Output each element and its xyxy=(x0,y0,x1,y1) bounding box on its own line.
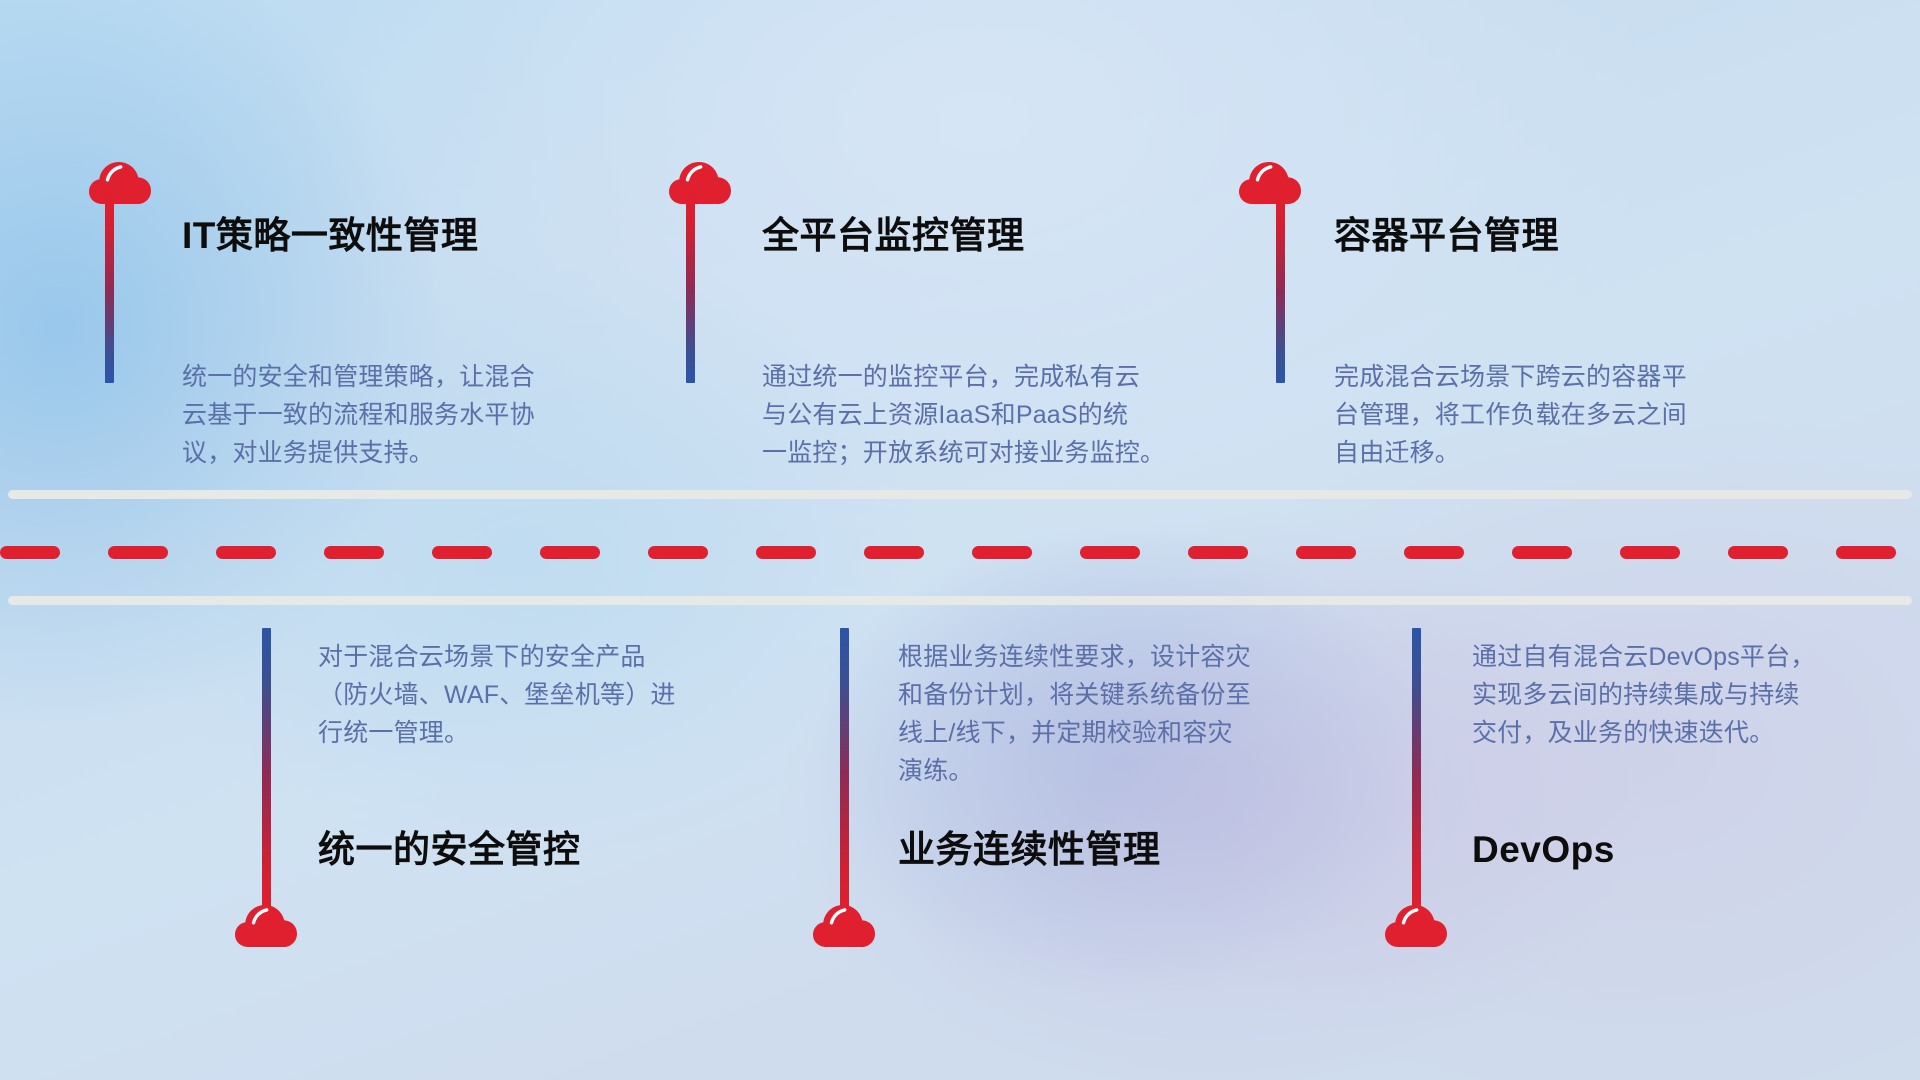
dash-segment xyxy=(432,546,492,559)
road-rail-top xyxy=(8,490,1912,499)
cloud-icon xyxy=(1238,155,1302,205)
infographic-canvas: IT策略一致性管理 统一的安全和管理策略，让混合 云基于一致的流程和服务水平协 … xyxy=(0,0,1920,1080)
road-rail-bottom xyxy=(8,596,1912,605)
dash-group xyxy=(0,546,1920,559)
dash-segment xyxy=(0,546,60,559)
cloud-icon xyxy=(1384,898,1448,948)
dash-segment xyxy=(972,546,1032,559)
dash-segment xyxy=(1404,546,1464,559)
cloud-icon xyxy=(234,898,298,948)
dash-segment xyxy=(1296,546,1356,559)
node-title: 统一的安全管控 xyxy=(318,830,581,871)
dash-segment xyxy=(1188,546,1248,559)
node-body: 统一的安全和管理策略，让混合 云基于一致的流程和服务水平协 议，对业务提供支持。 xyxy=(182,358,612,472)
connector-line xyxy=(105,198,114,383)
cloud-icon xyxy=(88,155,152,205)
node-body: 完成混合云场景下跨云的容器平 台管理，将工作负载在多云之间 自由迁移。 xyxy=(1334,358,1784,472)
dash-segment xyxy=(756,546,816,559)
dash-segment xyxy=(1620,546,1680,559)
dash-segment xyxy=(1080,546,1140,559)
dash-segment xyxy=(864,546,924,559)
cloud-icon xyxy=(668,155,732,205)
node-body: 通过自有混合云DevOps平台， 实现多云间的持续集成与持续 交付，及业务的快速… xyxy=(1472,638,1912,752)
node-title: 容器平台管理 xyxy=(1334,216,1559,257)
dash-segment xyxy=(324,546,384,559)
connector-line xyxy=(840,628,849,908)
dash-segment xyxy=(648,546,708,559)
dash-segment xyxy=(108,546,168,559)
node-title: 全平台监控管理 xyxy=(762,216,1025,257)
road-dashed-center-line xyxy=(0,546,1920,559)
connector-line xyxy=(262,628,271,908)
connector-line xyxy=(686,198,695,383)
dash-segment xyxy=(1728,546,1788,559)
node-body: 对于混合云场景下的安全产品 （防火墙、WAF、堡垒机等）进 行统一管理。 xyxy=(318,638,758,752)
connector-line xyxy=(1276,198,1285,383)
node-title: IT策略一致性管理 xyxy=(182,216,478,257)
connector-line xyxy=(1412,628,1421,908)
node-title: DevOps xyxy=(1472,830,1615,871)
dash-segment xyxy=(1836,546,1896,559)
dash-segment xyxy=(1512,546,1572,559)
node-body: 根据业务连续性要求，设计容灾 和备份计划，将关键系统备份至 线上/线下，并定期校… xyxy=(898,638,1338,790)
dash-segment xyxy=(540,546,600,559)
node-title: 业务连续性管理 xyxy=(898,830,1161,871)
node-body: 通过统一的监控平台，完成私有云 与公有云上资源IaaS和PaaS的统 一监控；开… xyxy=(762,358,1232,472)
dash-segment xyxy=(216,546,276,559)
cloud-icon xyxy=(812,898,876,948)
